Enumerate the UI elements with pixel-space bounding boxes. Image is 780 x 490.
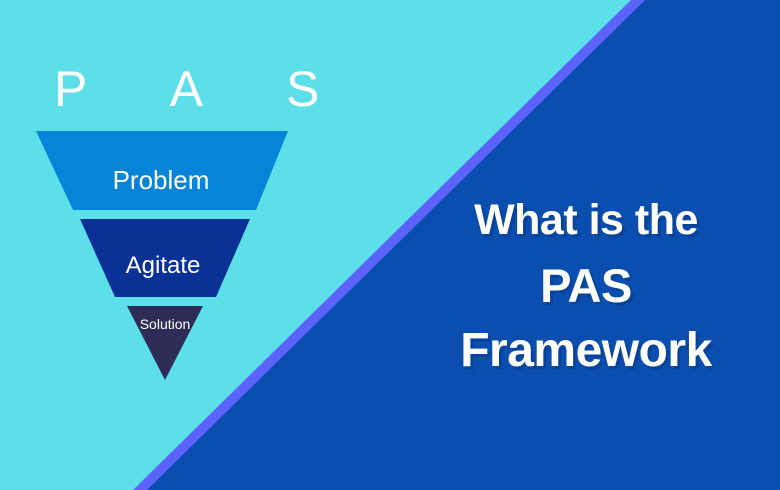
funnel-stage-solution: Solution — [120, 306, 210, 380]
funnel-stage-agitate: Agitate — [70, 219, 256, 297]
headline-line-1: What is the — [400, 188, 772, 253]
funnel-stage-problem-label: Problem — [113, 165, 210, 196]
headline-line-3: Framework — [400, 318, 772, 383]
funnel-diagram: Problem Agitate Solution — [0, 0, 390, 400]
headline-block: What is the PAS Framework — [400, 188, 772, 383]
slide-canvas: P A S Problem Agitate Solution What is t… — [0, 0, 780, 490]
funnel-stage-agitate-label: Agitate — [126, 252, 201, 280]
funnel-stage-problem: Problem — [30, 131, 292, 210]
headline-line-2: PAS — [400, 253, 772, 318]
funnel-stage-solution-label: Solution — [140, 316, 191, 332]
